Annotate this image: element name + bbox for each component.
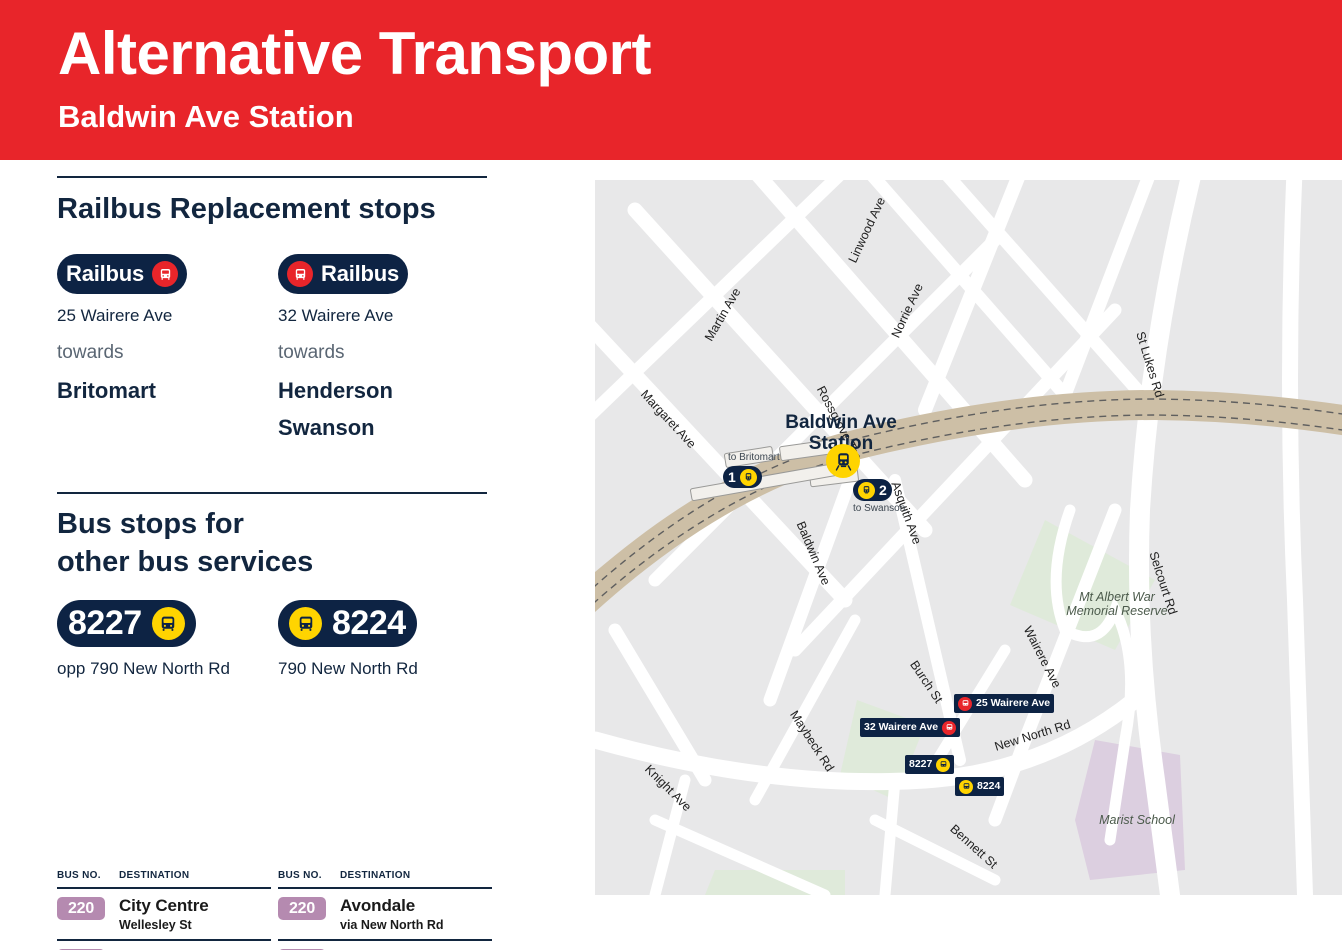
railbus-badge-1: Railbus	[57, 254, 187, 294]
bus-icon	[152, 261, 178, 287]
map-chip-label: 8224	[977, 781, 1000, 792]
train-icon	[833, 451, 854, 472]
railbus-towards-label-1: towards	[57, 342, 282, 364]
bus-icon	[289, 607, 322, 640]
railbus-destination-2a: Henderson	[278, 373, 503, 410]
table-header: BUS NO. DESTINATION	[278, 870, 492, 887]
platform-2-marker[interactable]: 2	[853, 479, 892, 501]
bus-stop-8224: 8224 790 New North Rd	[278, 600, 503, 679]
platform-2-number: 2	[879, 483, 887, 497]
page-title: Alternative Transport	[58, 22, 651, 85]
table-row: 220 Avondale via New North Rd	[278, 887, 492, 939]
platform-2-caption: to Swanson	[853, 503, 905, 514]
railbus-badge-label-2: Railbus	[321, 261, 399, 287]
place-label-marist-school: Marist School	[1087, 813, 1187, 827]
bus-icon	[152, 607, 185, 640]
page-subtitle: Baldwin Ave Station	[58, 99, 354, 135]
railbus-destination-1: Britomart	[57, 373, 282, 410]
bus-stop-number-8224: 8224	[332, 604, 406, 643]
bus-section-heading: Bus stops for other bus services	[57, 505, 313, 582]
table-header: BUS NO. DESTINATION	[57, 870, 271, 887]
bus-stop-number-8227: 8227	[68, 604, 142, 643]
platform-1-marker[interactable]: 1	[723, 466, 762, 488]
bus-section-heading-line2: other bus services	[57, 543, 313, 581]
station-name-line1: Baldwin Ave	[741, 412, 941, 433]
map-chip-8224[interactable]: 8224	[955, 777, 1004, 796]
bus-stop-badge-8227: 8227	[57, 600, 196, 647]
column-header-bus-no: BUS NO.	[278, 870, 340, 881]
destination-cell: Avondale via New North Rd	[340, 896, 444, 933]
map-chip-25-wairere-ave[interactable]: 25 Wairere Ave	[954, 694, 1054, 713]
map-chip-label: 32 Wairere Ave	[864, 722, 938, 733]
table-row: 220 City Centre Wellesley St	[57, 887, 271, 939]
map-chip-label: 25 Wairere Ave	[976, 698, 1050, 709]
divider-middle	[57, 492, 487, 494]
destination-main: City Centre	[119, 896, 209, 915]
bus-stop-address-8224: 790 New North Rd	[278, 659, 503, 679]
railbus-stop-2: Railbus 32 Wairere Ave towards Henderson…	[278, 254, 503, 447]
railbus-address-1: 25 Wairere Ave	[57, 306, 282, 326]
bus-icon	[942, 721, 956, 735]
left-column: Railbus Replacement stops Railbus 25 Wai…	[0, 160, 560, 950]
route-badge: 220	[57, 897, 105, 920]
train-icon	[858, 482, 875, 499]
place-label-mt-albert-reserve: Mt Albert War Memorial Reserve	[1057, 590, 1177, 618]
platform-1-number: 1	[728, 470, 736, 484]
map-chip-label: 8227	[909, 759, 932, 770]
destination-cell: City Centre Wellesley St	[119, 896, 209, 933]
bus-stop-8227: 8227 opp 790 New North Rd	[57, 600, 282, 679]
train-icon	[740, 469, 757, 486]
map-chip-32-wairere-ave[interactable]: 32 Wairere Ave	[860, 718, 960, 737]
route-table-8227: BUS NO. DESTINATION 220 City Centre Well…	[57, 870, 271, 950]
railbus-badge-2: Railbus	[278, 254, 408, 294]
place-line2: Memorial Reserve	[1057, 604, 1177, 618]
column-header-bus-no: BUS NO.	[57, 870, 119, 881]
railbus-badge-label-1: Railbus	[66, 261, 144, 287]
place-line1: Marist School	[1087, 813, 1187, 827]
railbus-stop-1: Railbus 25 Wairere Ave towards Britomart	[57, 254, 282, 410]
bus-icon	[959, 780, 973, 794]
railbus-address-2: 32 Wairere Ave	[278, 306, 503, 326]
table-row: 221 Rosebank Rd via Avondale	[278, 939, 492, 950]
railbus-towards-label-2: towards	[278, 342, 503, 364]
destination-main: Avondale	[340, 896, 444, 915]
divider-top	[57, 176, 487, 178]
area-map[interactable]: Margaret Ave Martin Ave Linwood Ave Norr…	[595, 180, 1342, 895]
map-chip-8227[interactable]: 8227	[905, 755, 954, 774]
header-banner: Alternative Transport Baldwin Ave Statio…	[0, 0, 1342, 160]
table-row: 221 City Centre Wellesley St	[57, 939, 271, 950]
poster-root: Alternative Transport Baldwin Ave Statio…	[0, 0, 1342, 950]
place-line1: Mt Albert War	[1057, 590, 1177, 604]
column-header-destination: DESTINATION	[119, 870, 189, 881]
railbus-section-heading: Railbus Replacement stops	[57, 190, 436, 228]
bus-icon	[958, 697, 972, 711]
bus-stop-address-8227: opp 790 New North Rd	[57, 659, 282, 679]
platform-1-caption: to Britomart	[728, 452, 780, 463]
train-station-marker[interactable]	[826, 444, 860, 478]
column-header-destination: DESTINATION	[340, 870, 410, 881]
bus-icon	[287, 261, 313, 287]
bus-stop-badge-8224: 8224	[278, 600, 417, 647]
route-badge: 220	[278, 897, 326, 920]
destination-sub: Wellesley St	[119, 917, 209, 933]
destination-sub: via New North Rd	[340, 917, 444, 933]
railbus-destination-2b: Swanson	[278, 410, 503, 447]
bus-section-heading-line1: Bus stops for	[57, 505, 313, 543]
bus-icon	[936, 758, 950, 772]
route-table-8224: BUS NO. DESTINATION 220 Avondale via New…	[278, 870, 492, 950]
